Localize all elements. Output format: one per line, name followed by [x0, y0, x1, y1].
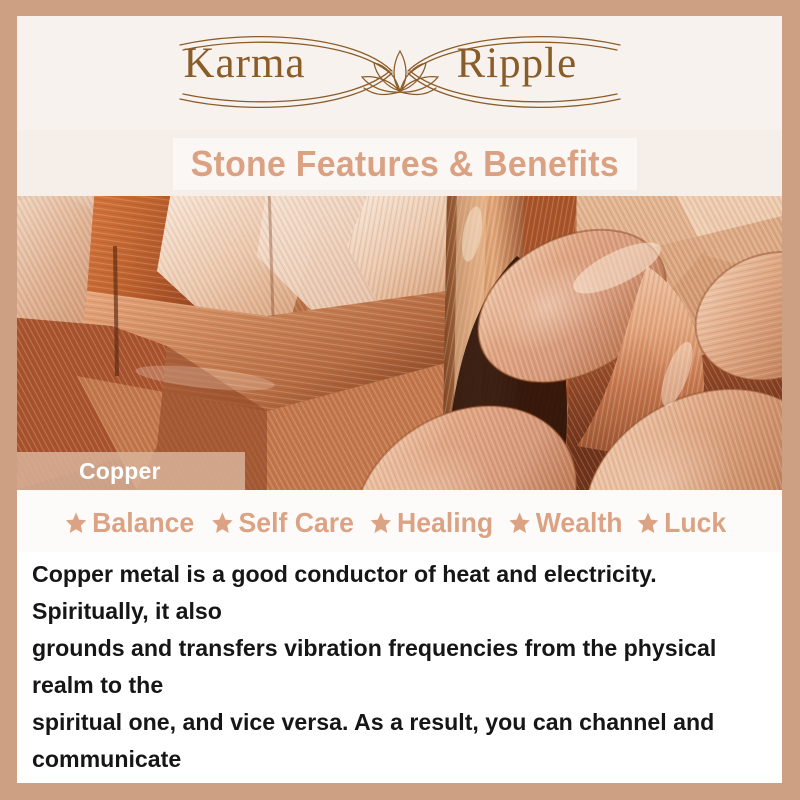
description-line: Copper metal is a good conductor of heat…	[32, 556, 757, 630]
star-icon	[637, 511, 660, 535]
benefit-item: Balance	[65, 507, 203, 539]
star-icon	[508, 511, 531, 535]
copper-photo-illustration	[17, 196, 782, 490]
description-line: grounds and transfers vibration frequenc…	[32, 630, 757, 704]
copper-bars-photo: Copper	[17, 196, 782, 490]
star-icon	[65, 511, 88, 535]
card-inner-surface: Karma Ripple Stone Features & Benefits	[17, 16, 782, 783]
title-box: Stone Features & Benefits	[173, 138, 637, 190]
benefit-label: Healing	[397, 507, 502, 539]
star-icon	[369, 511, 392, 535]
benefit-item: Wealth	[508, 507, 631, 539]
title-strip: Stone Features & Benefits	[17, 130, 782, 196]
photo-caption-text: Copper	[79, 458, 161, 485]
brand-header: Karma Ripple	[17, 16, 782, 130]
description-line: with higher dimensional beings, cleanse …	[32, 778, 757, 783]
benefit-item: Healing	[369, 507, 501, 539]
benefit-item: Self Care	[211, 507, 362, 539]
brand-logo: Karma Ripple	[120, 25, 680, 121]
benefit-label: Self Care	[238, 507, 362, 539]
benefits-row: Balance Self Care Healing Wealth	[17, 490, 782, 556]
benefit-label: Luck	[665, 507, 736, 539]
brand-name-right: Ripple	[457, 42, 578, 85]
benefit-label: Wealth	[536, 507, 631, 539]
brand-name-left: Karma	[184, 42, 306, 85]
star-icon	[211, 511, 234, 535]
benefit-item: Luck	[637, 507, 735, 539]
page-title: Stone Features & Benefits	[191, 143, 619, 185]
product-info-card: Karma Ripple Stone Features & Benefits	[0, 0, 800, 800]
description-line: spiritual one, and vice versa. As a resu…	[32, 704, 757, 778]
photo-caption-bar: Copper	[17, 452, 245, 490]
description-block: Copper metal is a good conductor of heat…	[17, 552, 782, 783]
benefit-label: Balance	[92, 507, 203, 539]
